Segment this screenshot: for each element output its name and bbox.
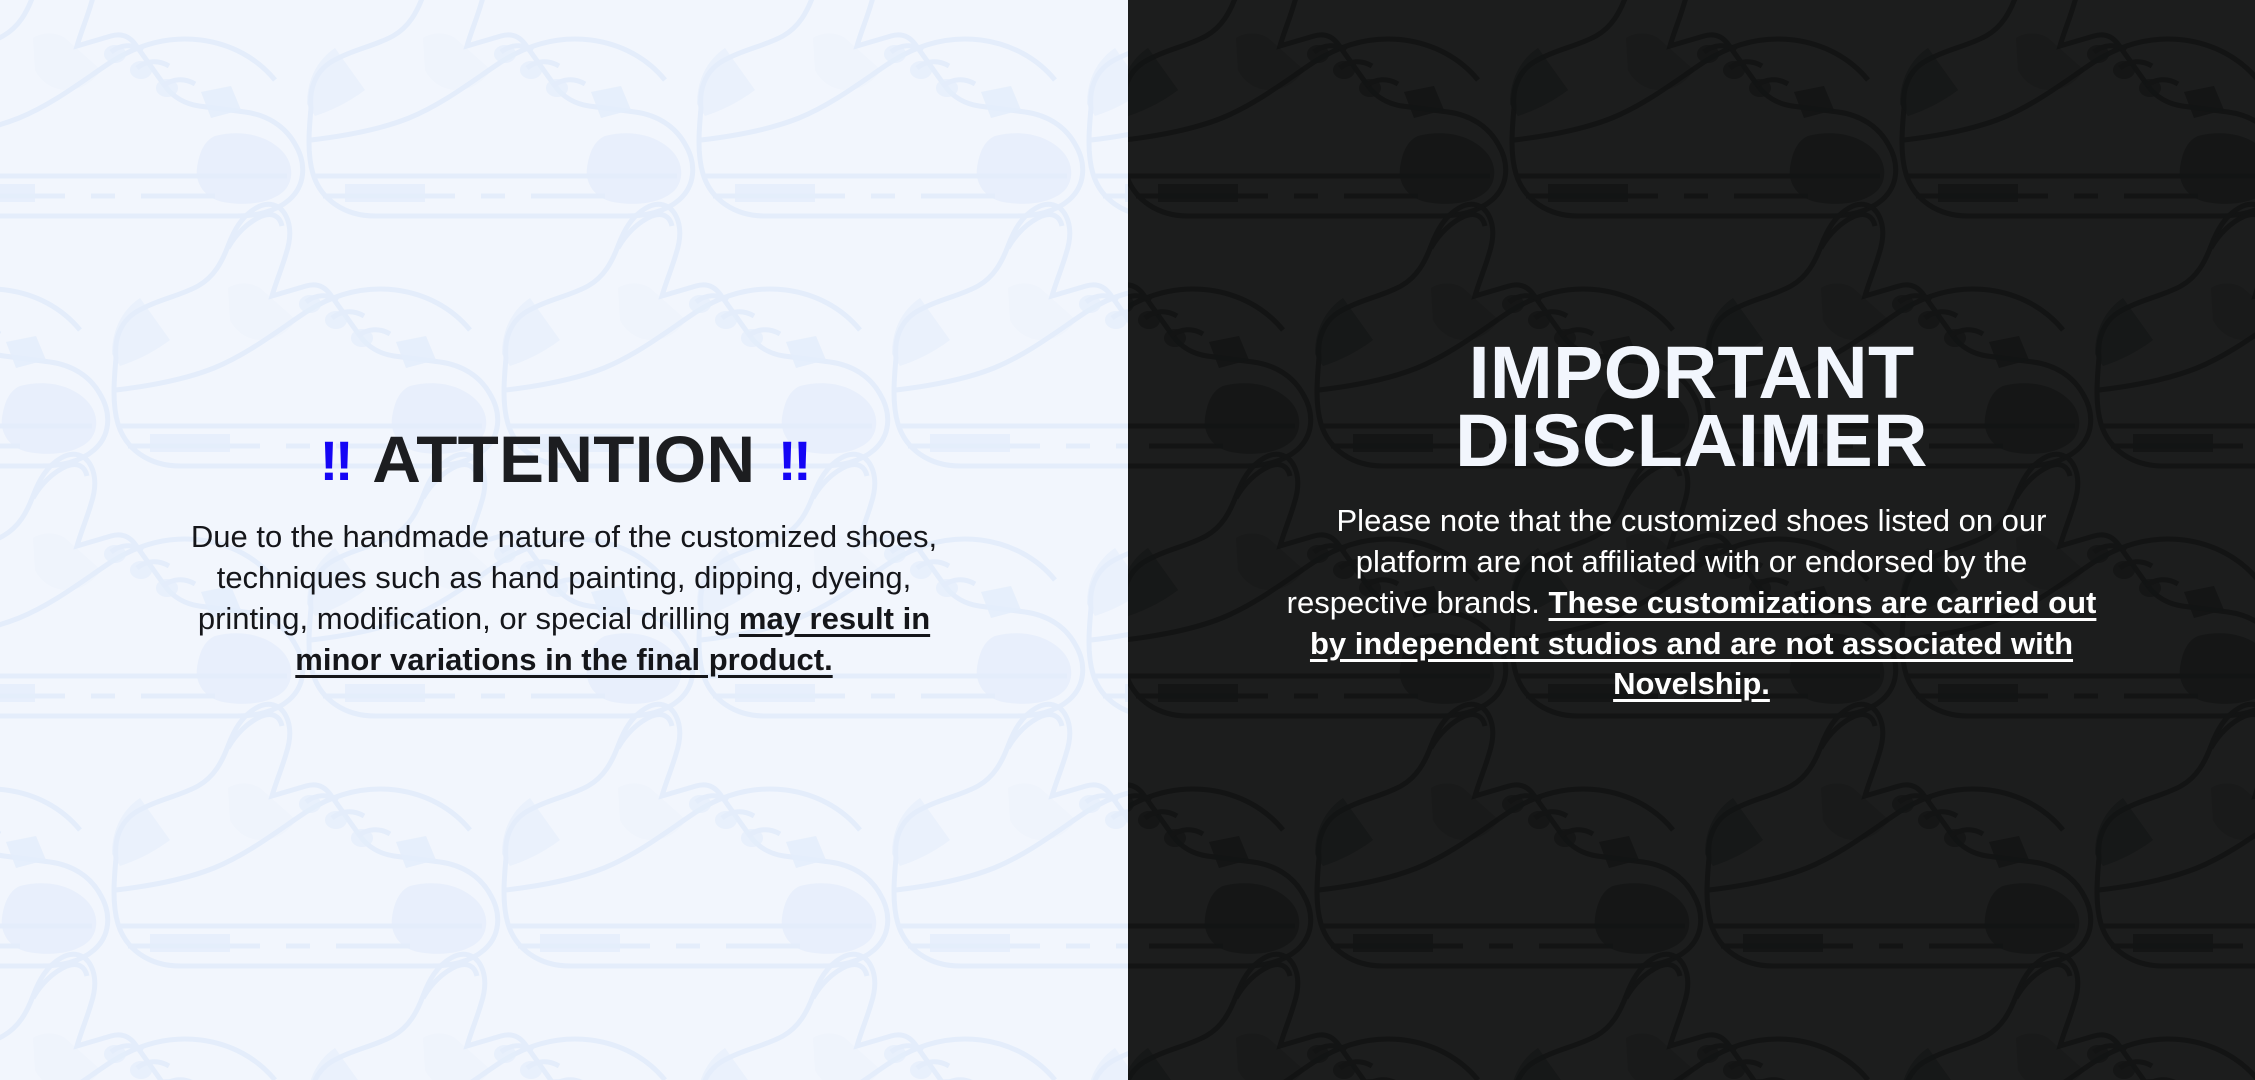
disclaimer-content: IMPORTANT DISCLAIMER Please note that th… (1128, 339, 2255, 706)
double-exclamation-icon-right: ‼ (778, 433, 808, 489)
disclaimer-heading-line2: DISCLAIMER (1158, 407, 2226, 475)
disclaimer-body: Please note that the customized shoes li… (1287, 501, 2097, 706)
disclaimer-heading: IMPORTANT DISCLAIMER (1158, 339, 2226, 475)
attention-content: ‼ ATTENTION ‼ Due to the handmade nature… (0, 428, 1128, 681)
attention-heading-word: ATTENTION (372, 428, 755, 491)
attention-panel: ‼ ATTENTION ‼ Due to the handmade nature… (0, 0, 1128, 1080)
attention-heading: ‼ ATTENTION ‼ (40, 428, 1088, 491)
customization-notice-banner: ‼ ATTENTION ‼ Due to the handmade nature… (0, 0, 2255, 1080)
double-exclamation-icon-left: ‼ (320, 433, 350, 489)
attention-body: Due to the handmade nature of the custom… (164, 517, 964, 681)
disclaimer-panel: IMPORTANT DISCLAIMER Please note that th… (1128, 0, 2255, 1080)
